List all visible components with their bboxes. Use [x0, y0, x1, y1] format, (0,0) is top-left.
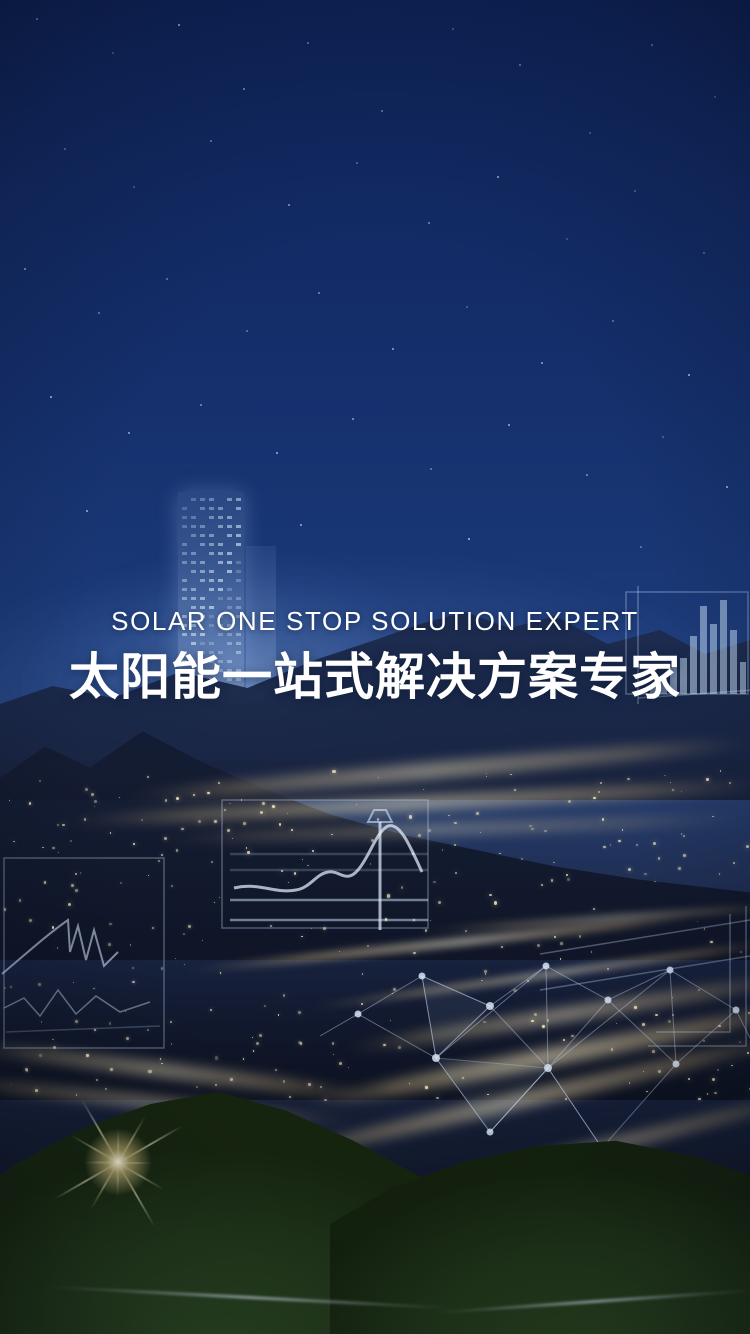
hero-text-block: SOLAR ONE STOP SOLUTION EXPERT 太阳能一站式解决方…: [0, 604, 750, 706]
banner-stage: SOLAR ONE STOP SOLUTION EXPERT 太阳能一站式解决方…: [0, 0, 750, 1334]
banner-subtitle: SOLAR ONE STOP SOLUTION EXPERT: [0, 604, 750, 638]
banner-headline: 太阳能一站式解决方案专家: [0, 648, 750, 706]
